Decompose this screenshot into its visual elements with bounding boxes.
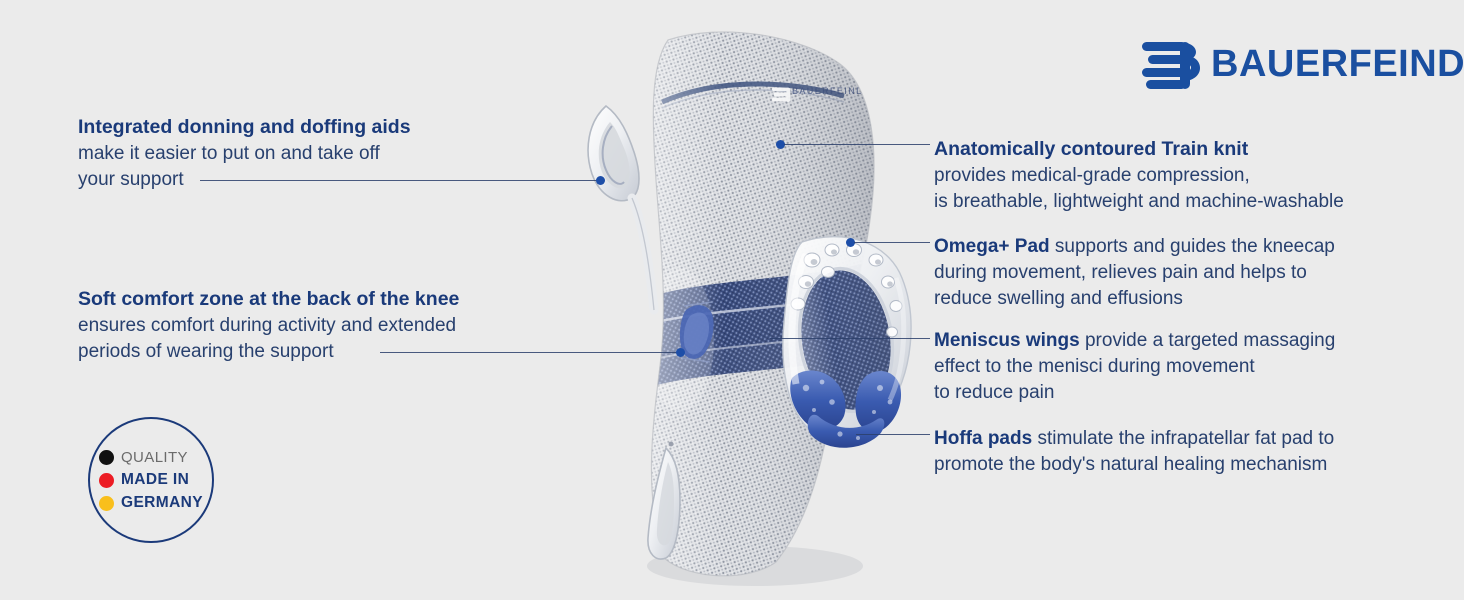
callout-train-knit-line-1: provides medical-grade compression, bbox=[934, 163, 1344, 189]
donning-aid-loop-top bbox=[588, 106, 654, 310]
knee-support-product-image: BAUERFEIND bbox=[540, 10, 960, 590]
leader-dot-comfort-zone bbox=[676, 348, 685, 357]
brand-logo: BAUERFEIND ® bbox=[1142, 38, 1464, 90]
seal-row-made-in: MADE IN bbox=[99, 470, 203, 491]
callout-meniscus-wings-line-1: effect to the menisci during movement bbox=[934, 354, 1335, 380]
callout-comfort-zone-line-1: ensures comfort during activity and exte… bbox=[78, 313, 459, 339]
callout-meniscus-wings: Meniscus wings provide a targeted massag… bbox=[934, 328, 1335, 406]
callout-meniscus-wings-line-2: to reduce pain bbox=[934, 380, 1335, 406]
seal-dot-gold bbox=[99, 496, 114, 511]
quality-seal-badge: QUALITY MADE IN GERMANY bbox=[88, 417, 214, 543]
leader-line-train-knit bbox=[784, 144, 930, 145]
callout-omega-pad-bold: Omega+ Pad bbox=[934, 236, 1050, 257]
seal-dot-black bbox=[99, 450, 114, 465]
bauerfeind-b-mark bbox=[1142, 38, 1202, 90]
callout-hoffa-pads: Hoffa pads stimulate the infrapatellar f… bbox=[934, 426, 1334, 478]
callout-train-knit-heading: Anatomically contoured Train knit bbox=[934, 136, 1344, 163]
callout-omega-pad-line-1: during movement, relieves pain and helps… bbox=[934, 260, 1335, 286]
leader-line-meniscus-wings bbox=[770, 338, 930, 339]
callout-comfort-zone: Soft comfort zone at the back of the kne… bbox=[78, 286, 459, 365]
leader-line-omega-pad bbox=[854, 242, 930, 243]
callout-donning-aids: Integrated donning and doffing aids make… bbox=[78, 114, 411, 193]
leader-dot-donning-aids bbox=[596, 176, 605, 185]
callout-meniscus-wings-lead: Meniscus wings provide a targeted massag… bbox=[934, 328, 1335, 354]
leader-line-comfort-zone bbox=[380, 352, 680, 353]
callout-hoffa-pads-bold: Hoffa pads bbox=[934, 428, 1032, 449]
callout-train-knit: Anatomically contoured Train knit provid… bbox=[934, 136, 1344, 215]
callout-omega-pad-line-2: reduce swelling and effusions bbox=[934, 286, 1335, 312]
callout-omega-pad: Omega+ Pad supports and guides the kneec… bbox=[934, 234, 1335, 312]
callout-hoffa-pads-lead-rest: stimulate the infrapatellar fat pad to bbox=[1032, 428, 1334, 449]
callout-donning-aids-heading: Integrated donning and doffing aids bbox=[78, 114, 411, 141]
callout-comfort-zone-heading: Soft comfort zone at the back of the kne… bbox=[78, 286, 459, 313]
seal-dot-red bbox=[99, 473, 114, 488]
callout-hoffa-pads-lead: Hoffa pads stimulate the infrapatellar f… bbox=[934, 426, 1334, 452]
seal-label-quality: QUALITY bbox=[121, 449, 188, 466]
infographic-canvas: BAUERFEIND ® bbox=[0, 0, 1464, 600]
callout-train-knit-line-2: is breathable, lightweight and machine-w… bbox=[934, 189, 1344, 215]
seal-label-germany: GERMANY bbox=[121, 494, 203, 512]
leader-line-donning-aids bbox=[200, 180, 600, 181]
seal-label-made-in: MADE IN bbox=[121, 471, 189, 489]
callout-hoffa-pads-line-1: promote the body's natural healing mecha… bbox=[934, 452, 1334, 478]
callout-meniscus-wings-bold: Meniscus wings bbox=[934, 330, 1080, 351]
leader-line-hoffa-pads bbox=[856, 434, 930, 435]
callout-omega-pad-lead: Omega+ Pad supports and guides the kneec… bbox=[934, 234, 1335, 260]
callout-meniscus-wings-lead-rest: provide a targeted massaging bbox=[1080, 330, 1336, 351]
callout-donning-aids-line-1: make it easier to put on and take off bbox=[78, 141, 411, 167]
omega-plus-pad bbox=[783, 237, 911, 448]
callout-omega-pad-lead-rest: supports and guides the kneecap bbox=[1050, 236, 1335, 257]
seal-row-quality: QUALITY bbox=[99, 447, 203, 468]
brand-name: BAUERFEIND bbox=[1211, 43, 1464, 86]
seal-row-germany: GERMANY bbox=[99, 493, 203, 514]
